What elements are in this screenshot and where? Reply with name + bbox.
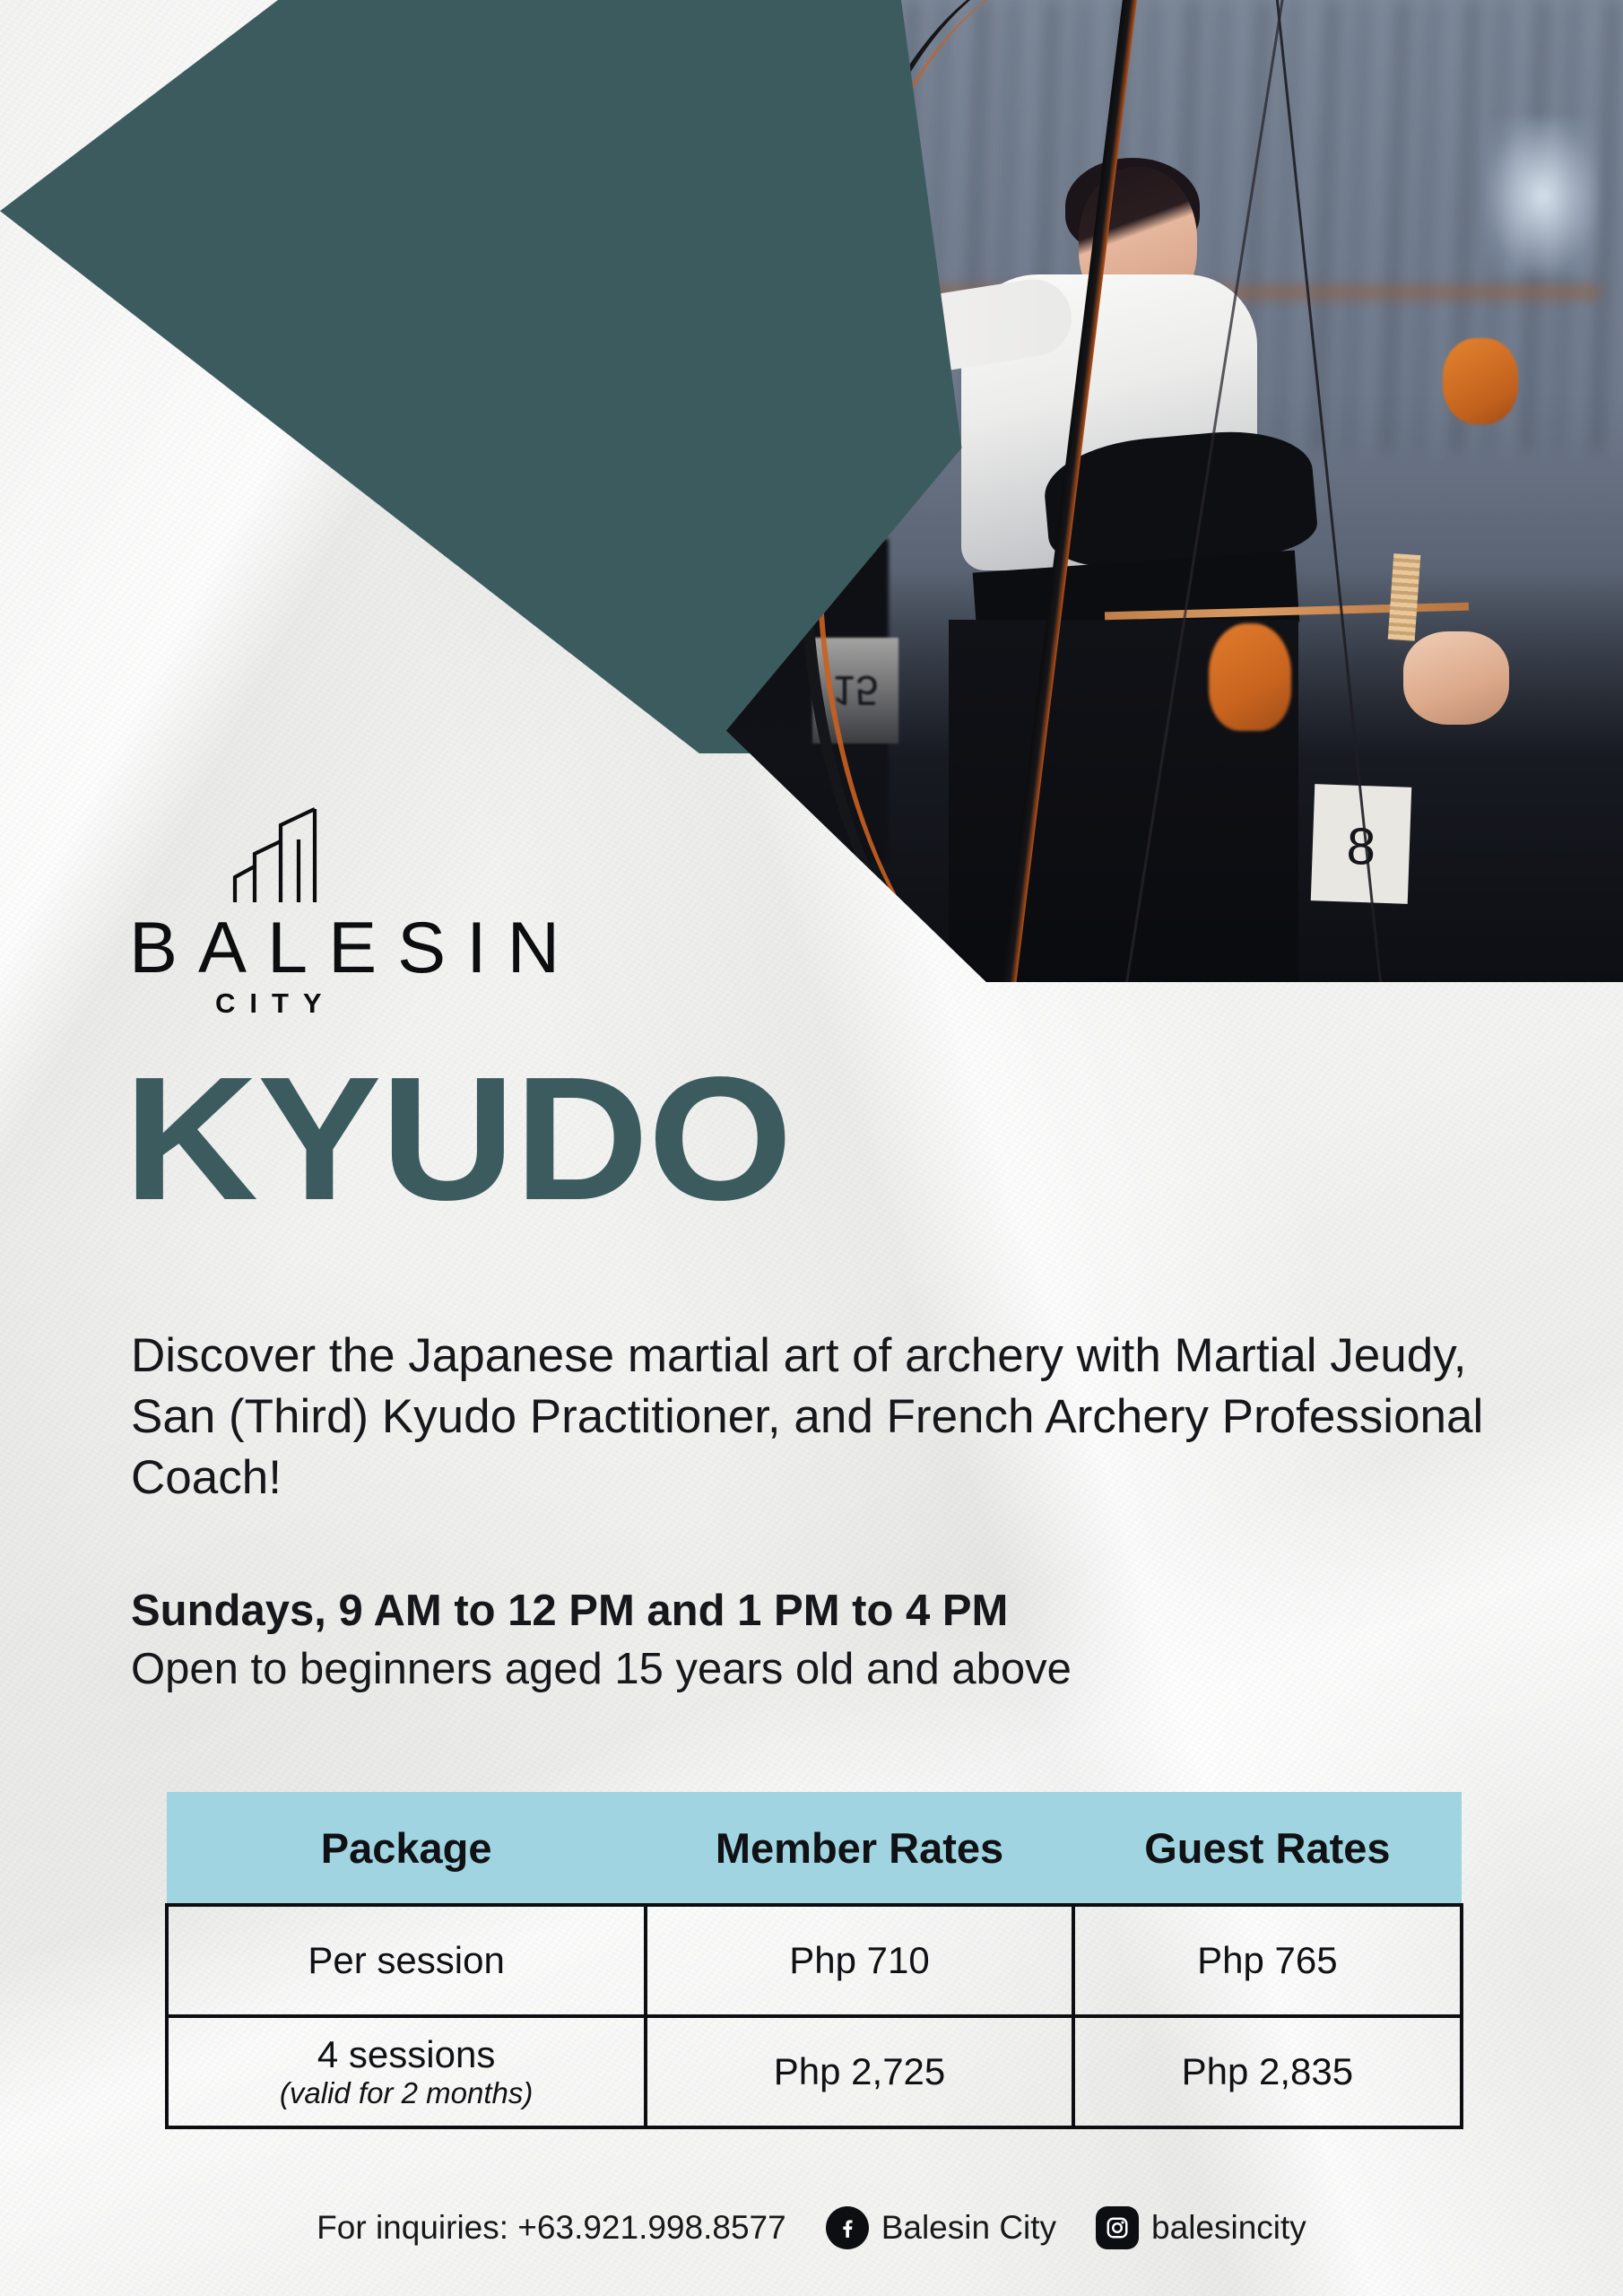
- rates-table: Package Member Rates Guest Rates Per ses…: [165, 1792, 1463, 2129]
- rate-guest-1: Php 2,835: [1073, 2016, 1462, 2127]
- table-row: 4 sessions (valid for 2 months) Php 2,72…: [167, 2016, 1462, 2127]
- footer-contact: For inquiries: +63.921.998.8577 Balesin …: [0, 2206, 1623, 2249]
- rates-header-member: Member Rates: [646, 1792, 1073, 1905]
- kyudo-poster: 15 8: [0, 0, 1623, 2296]
- instagram-label: balesincity: [1151, 2209, 1306, 2247]
- rates-header-guest: Guest Rates: [1073, 1792, 1462, 1905]
- rates-header-package: Package: [167, 1792, 646, 1905]
- brand-sub: CITY: [215, 987, 500, 1020]
- facebook-handle[interactable]: Balesin City: [826, 2206, 1056, 2249]
- rate-member-1: Php 2,725: [646, 2016, 1073, 2127]
- schedule-eligibility: Open to beginners aged 15 years old and …: [131, 1640, 1494, 1699]
- instagram-handle[interactable]: balesincity: [1096, 2206, 1306, 2249]
- schedule-days-time: Sundays, 9 AM to 12 PM and 1 PM to 4 PM: [131, 1582, 1494, 1640]
- rate-package-1-note: (valid for 2 months): [169, 2077, 643, 2110]
- rate-package-1: 4 sessions (valid for 2 months): [167, 2016, 646, 2127]
- balesin-skyline-icon: [224, 805, 330, 906]
- archer-draw-hand: [1403, 631, 1509, 725]
- inquiries-text: For inquiries: +63.921.998.8577: [317, 2209, 786, 2247]
- brand-name: BALESIN: [115, 915, 500, 982]
- intro-paragraph: Discover the Japanese martial art of arc…: [131, 1326, 1494, 1508]
- bow-grip-wrap: [1387, 553, 1420, 641]
- rate-member-0: Php 710: [646, 1905, 1073, 2016]
- instagram-icon: [1096, 2206, 1139, 2249]
- brand-logo: BALESIN CITY: [115, 805, 500, 1020]
- rate-guest-0: Php 765: [1073, 1905, 1462, 2016]
- rate-package-0: Per session: [167, 1905, 646, 2016]
- archery-glove-draw-hand: [1443, 338, 1518, 424]
- schedule-block: Sundays, 9 AM to 12 PM and 1 PM to 4 PM …: [131, 1582, 1494, 1699]
- table-row: Per session Php 710 Php 765: [167, 1905, 1462, 2016]
- archer-bib-number: 8: [1345, 816, 1376, 877]
- facebook-icon: [826, 2206, 869, 2249]
- rate-package-1-label: 4 sessions: [317, 2033, 495, 2075]
- facebook-label: Balesin City: [881, 2209, 1056, 2247]
- page-title: KYUDO: [124, 1064, 792, 1215]
- rates-header-row: Package Member Rates Guest Rates: [167, 1792, 1462, 1905]
